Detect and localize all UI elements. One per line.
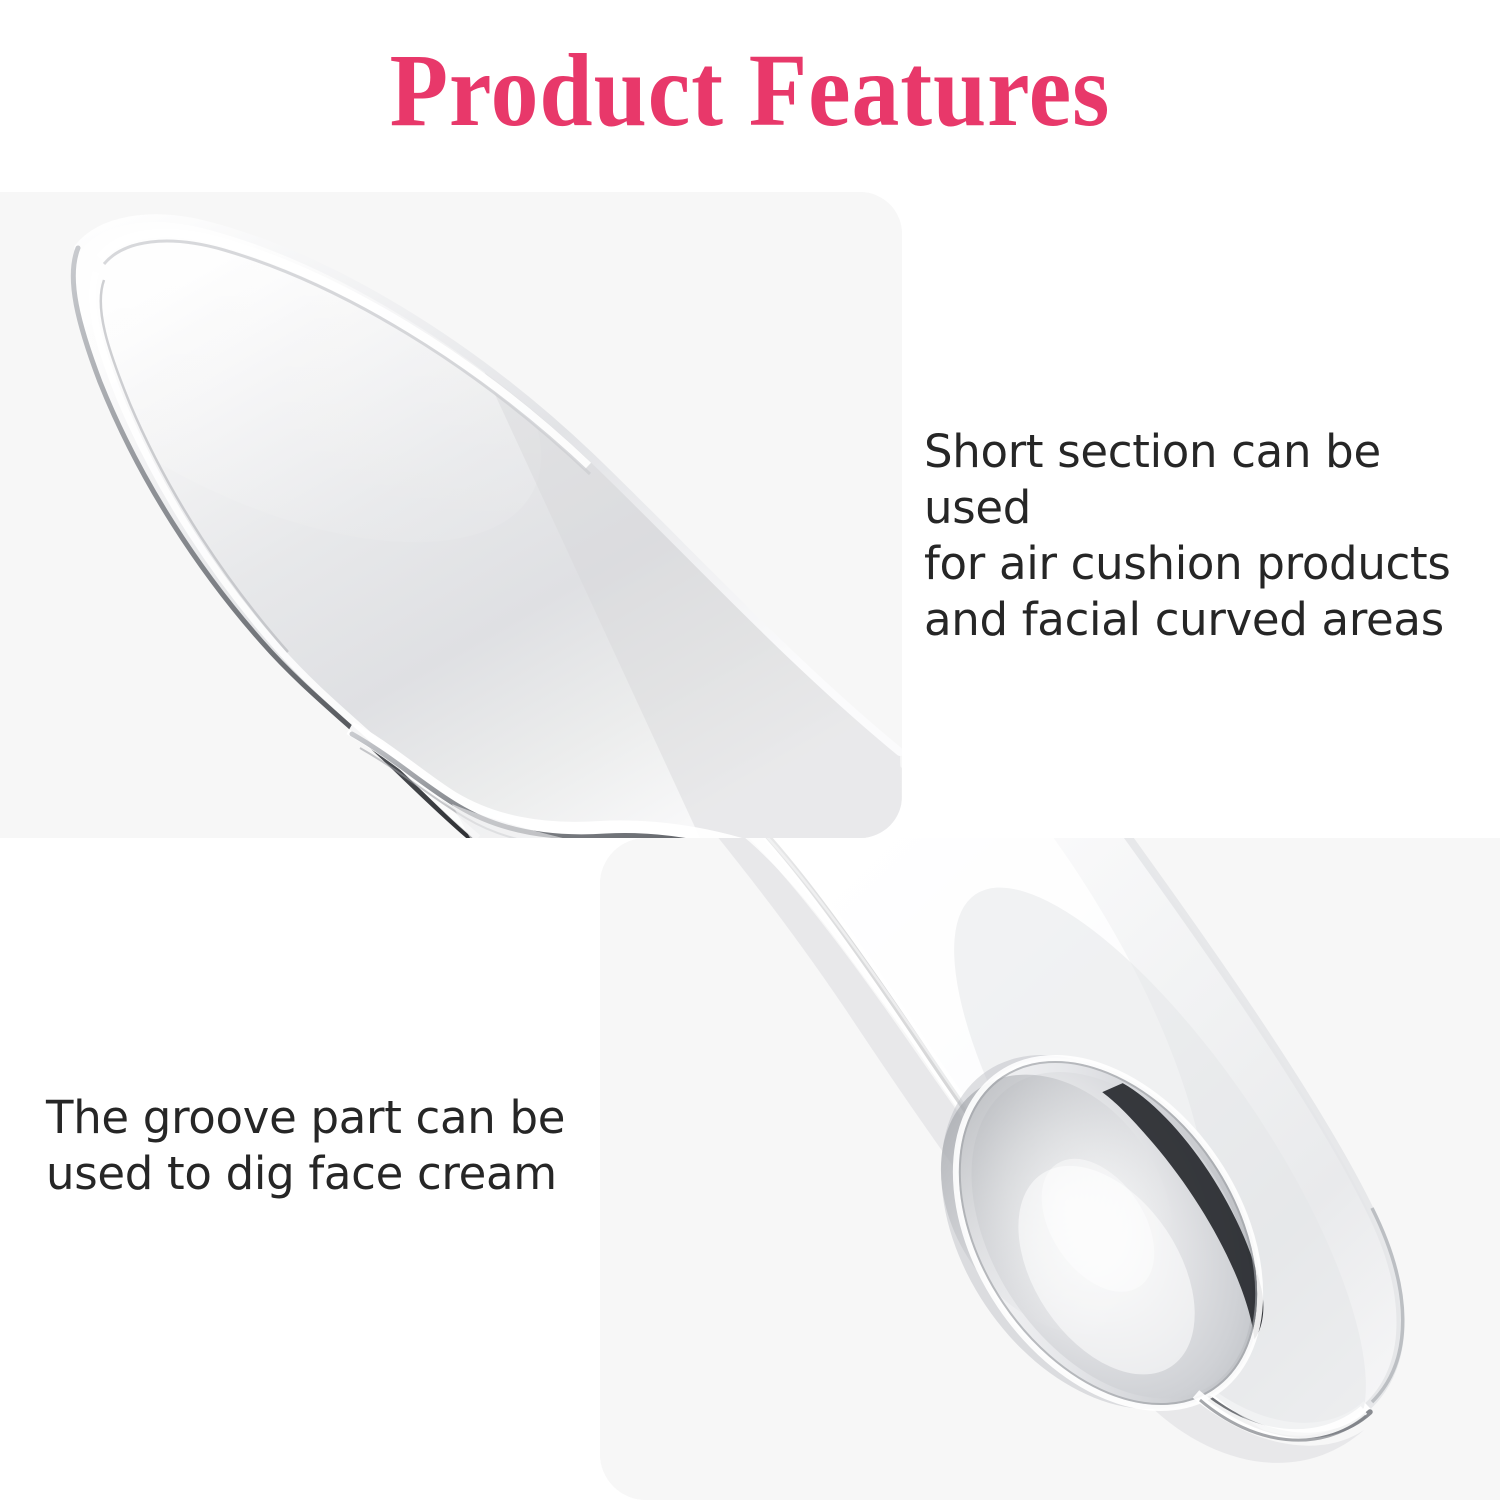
feature-image-panel-groove-part — [600, 838, 1500, 1500]
page-title: Product Features — [60, 36, 1440, 146]
product-features-page: Product Features — [0, 0, 1500, 1500]
feature-caption-short-section: Short section can be used for air cushio… — [924, 424, 1484, 648]
feature-image-panel-short-section — [0, 192, 902, 838]
feature-caption-groove-part: The groove part can be used to dig face … — [46, 1090, 576, 1202]
gua-sha-blade-tip-photo — [0, 192, 902, 838]
gua-sha-groove-spoon-photo — [600, 838, 1500, 1500]
